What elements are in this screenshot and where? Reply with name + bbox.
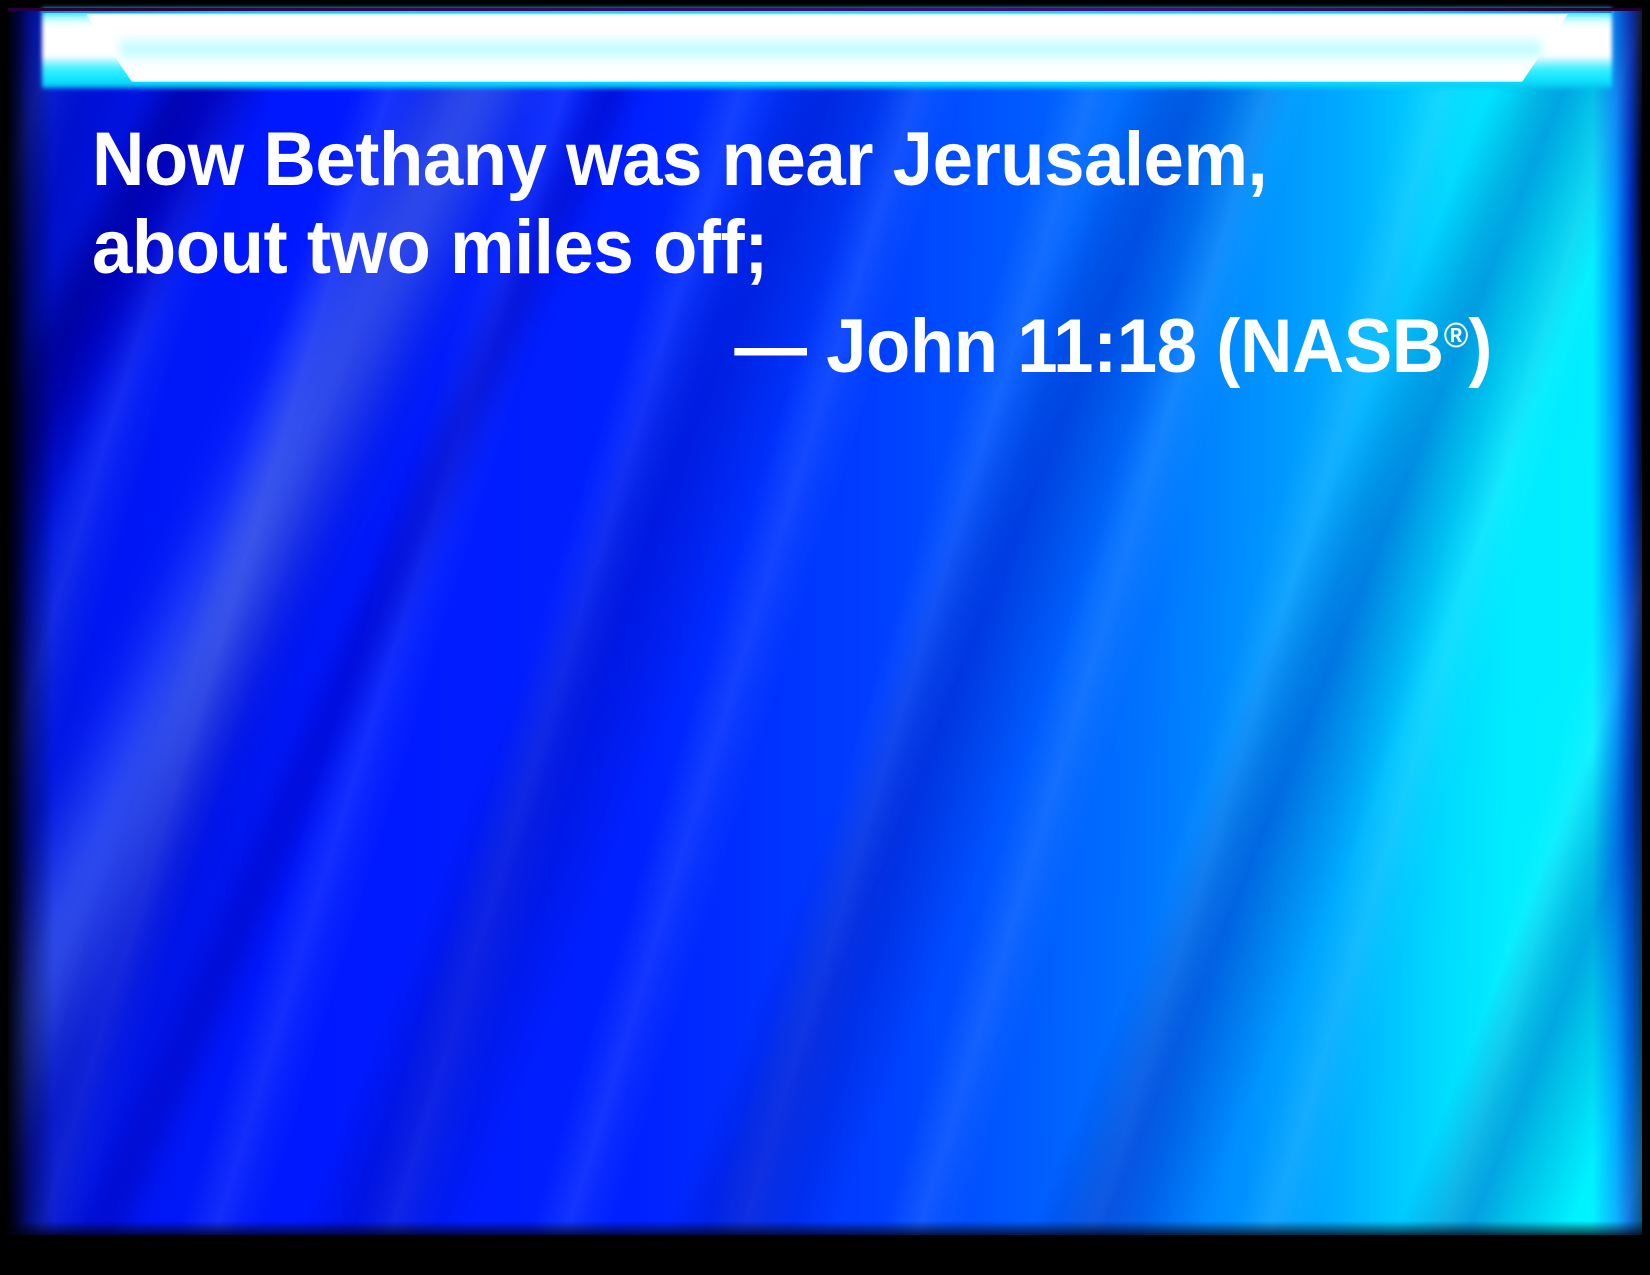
slide-background: [8, 8, 1642, 1235]
header-band-purple-rule: [8, 8, 1642, 11]
background-left-edge-shadow: [8, 8, 54, 1235]
background-bottom-edge-shadow: [8, 1221, 1642, 1235]
scripture-slide: Now Bethany was near Jerusalem, about tw…: [0, 0, 1650, 1275]
header-glow-band: [8, 8, 1642, 90]
header-band-inner-glow: [120, 36, 1542, 62]
